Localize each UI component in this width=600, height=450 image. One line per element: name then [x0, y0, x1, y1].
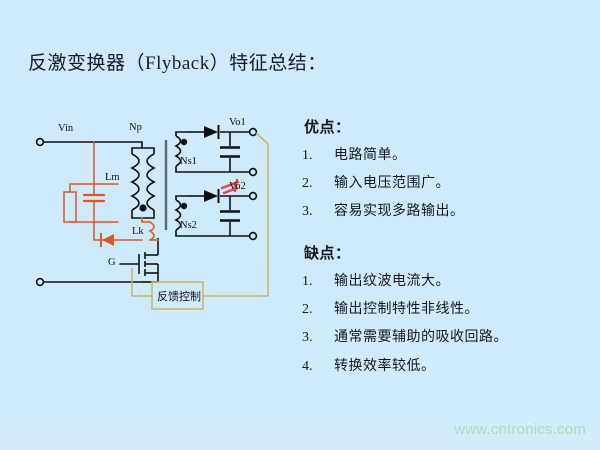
- advantage-item-number: 1.: [302, 148, 334, 164]
- output-capacitor-c2: [220, 212, 240, 221]
- leakage-inductor-lk: [142, 218, 158, 240]
- slide-canvas: 反激变换器（Flyback）特征总结：: [0, 0, 600, 450]
- disadvantages-heading: 缺点：: [304, 242, 582, 263]
- flyback-circuit-diagram: Vin Np Lm Lk G Ns1 Ns2 Vo1 Vo2 反馈控制: [24, 118, 304, 338]
- polarity-dot-ns2: [181, 203, 187, 209]
- label-g: G: [108, 257, 116, 268]
- label-ns2: Ns2: [180, 220, 197, 231]
- mosfet-switch: [139, 244, 158, 282]
- disadvantage-item: 2.输出控制特性非线性。: [302, 302, 582, 318]
- terminal-vin-positive: [37, 139, 44, 146]
- label-ns1: Ns1: [180, 156, 197, 167]
- label-np: Np: [129, 122, 142, 133]
- disadvantage-item-text: 输出控制特性非线性。: [334, 302, 582, 318]
- advantage-item-number: 2.: [302, 176, 334, 192]
- advantage-item-text: 容易实现多路输出。: [334, 204, 582, 220]
- disadvantage-item-number: 1.: [302, 274, 334, 290]
- terminal-vo2-negative: [250, 233, 257, 240]
- primary-wiring: [40, 142, 142, 282]
- disadvantage-item-text: 通常需要辅助的吸收回路。: [334, 330, 582, 346]
- disadvantage-item: 4.转换效率较低。: [302, 359, 582, 375]
- advantages-list: 1.电路简单。2.输入电压范围广。3.容易实现多路输出。: [302, 148, 582, 220]
- label-vo2: Vo2: [229, 181, 246, 192]
- disadvantage-item: 3.通常需要辅助的吸收回路。: [302, 330, 582, 346]
- rcd-snubber-network: [64, 142, 142, 240]
- advantage-item-number: 3.: [302, 204, 334, 220]
- output-capacitor-c1: [220, 148, 240, 157]
- advantage-item: 2.输入电压范围广。: [302, 176, 582, 192]
- rectifier-diode-d1: [204, 126, 218, 138]
- label-lm: Lm: [105, 172, 120, 183]
- label-vo1: Vo1: [229, 117, 246, 128]
- disadvantage-item-text: 转换效率较低。: [334, 359, 582, 375]
- page-title: 反激变换器（Flyback）特征总结：: [28, 48, 327, 75]
- advantage-item: 3.容易实现多路输出。: [302, 204, 582, 220]
- feedback-loop-wire: [132, 133, 268, 296]
- terminal-vo1-negative: [250, 169, 257, 176]
- disadvantage-item: 1.输出纹波电流大。: [302, 274, 582, 290]
- advantage-item-text: 电路简单。: [334, 148, 582, 164]
- label-lk: Lk: [132, 226, 144, 237]
- output2-wiring: [196, 196, 250, 236]
- label-feedback-control: 反馈控制: [157, 288, 201, 304]
- disadvantage-item-text: 输出纹波电流大。: [334, 274, 582, 290]
- disadvantage-item-number: 3.: [302, 330, 334, 346]
- terminal-vin-negative: [37, 279, 44, 286]
- polarity-dot-primary: [139, 204, 146, 211]
- rectifier-diode-d2: [204, 190, 218, 202]
- polarity-dot-ns1: [181, 139, 187, 145]
- label-vin: Vin: [58, 123, 73, 134]
- snubber-diode: [102, 234, 114, 246]
- features-panel: 优点： 1.电路简单。2.输入电压范围广。3.容易实现多路输出。 缺点： 1.输…: [302, 116, 582, 387]
- advantage-item: 1.电路简单。: [302, 148, 582, 164]
- site-watermark: www.cntronics.com: [454, 421, 586, 438]
- circuit-svg: [24, 118, 304, 338]
- disadvantage-item-number: 2.: [302, 302, 334, 318]
- disadvantages-list: 1.输出纹波电流大。2.输出控制特性非线性。3.通常需要辅助的吸收回路。4.转换…: [302, 274, 582, 374]
- output1-wiring: [196, 132, 250, 172]
- terminal-vo1-positive: [250, 129, 257, 136]
- advantage-item-text: 输入电压范围广。: [334, 176, 582, 192]
- terminal-vo2-positive: [250, 193, 257, 200]
- disadvantage-item-number: 4.: [302, 359, 334, 375]
- advantages-heading: 优点：: [304, 116, 582, 137]
